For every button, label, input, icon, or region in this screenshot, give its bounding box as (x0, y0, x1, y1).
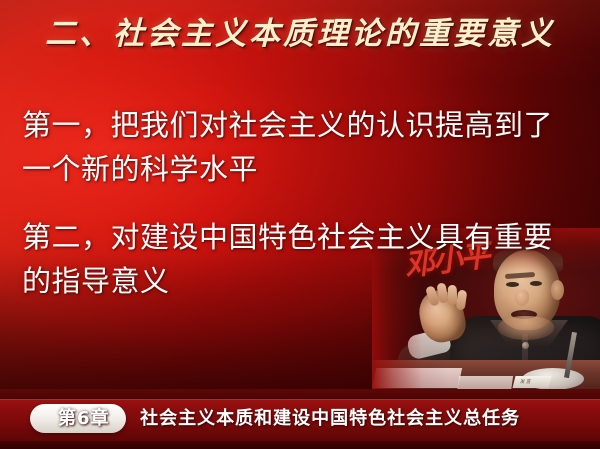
footer-text: 第6章 社会主义本质和建设中国特色社会主义总任务 (58, 404, 520, 433)
presentation-slide: 发言 邓小平 二、社会主义本质理论的重要意义 第一，把我们对社会主义的认识提高到… (0, 0, 600, 449)
photo-documents (372, 368, 462, 388)
slide-title: 二、社会主义本质理论的重要意义 (0, 8, 600, 53)
footer-chapter-title: 社会主义本质和建设中国特色社会主义总任务 (140, 408, 520, 429)
footer-lower-band (0, 441, 600, 449)
photo-name-card-label: 发言 (519, 378, 533, 385)
footer-chapter-label: 第6章 (58, 408, 110, 429)
photo-suit-button (522, 342, 529, 349)
photo-chin (498, 316, 554, 340)
body-paragraph-2: 第二，对建设中国特色社会主义具有重要的指导意义 (22, 216, 570, 304)
body-paragraph-1: 第一，把我们对社会主义的认识提高到了一个新的科学水平 (22, 104, 570, 192)
